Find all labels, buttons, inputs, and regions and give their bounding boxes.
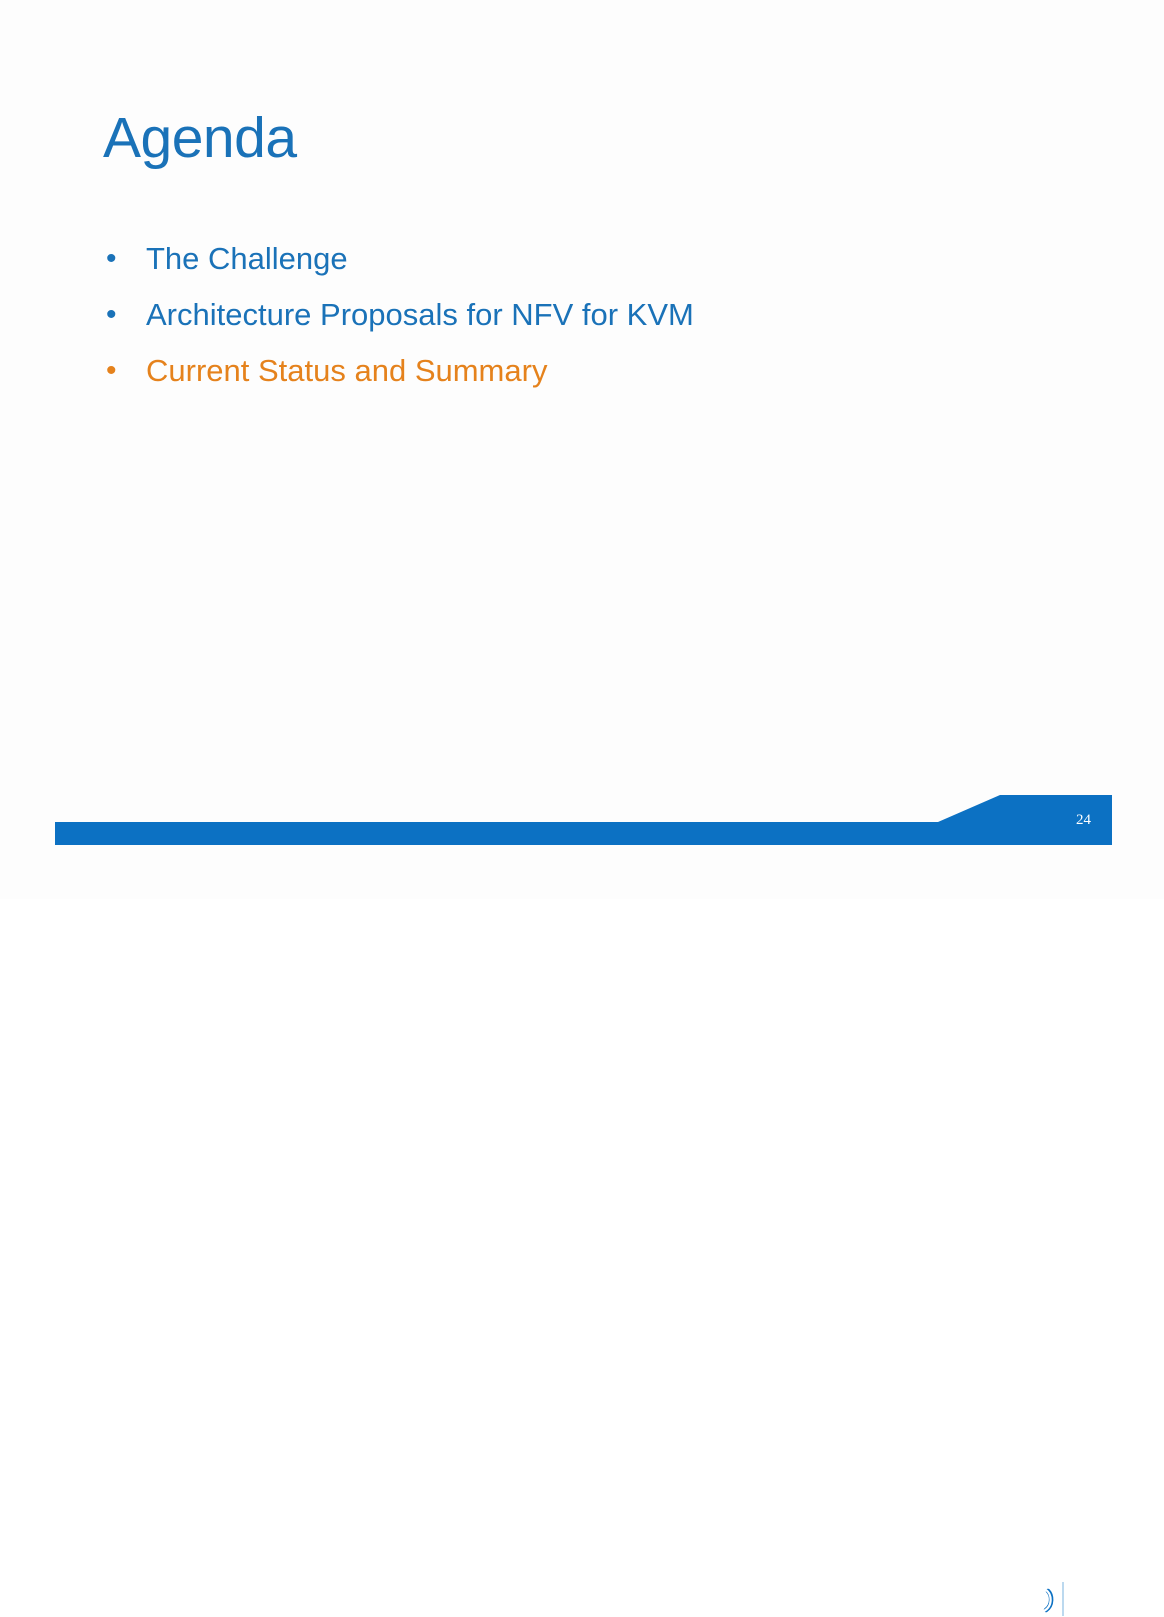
bullet-dot-icon: • [103,238,146,280]
slide-number: 24 [1076,810,1106,830]
intel-logo-icon: intel [1000,1583,1056,1617]
agenda-bullet-list: • The Challenge • Architecture Proposals… [103,238,1003,406]
footer-divider [1062,1582,1064,1616]
agenda-item-current-status-and-summary: Current Status and Summary [146,350,547,392]
slide-canvas: Agenda • The Challenge • Architecture Pr… [0,0,1164,899]
bullet-dot-icon: • [103,350,146,392]
footer-bar-shape [0,780,1164,860]
page-title: Agenda [103,104,297,172]
list-item: • Current Status and Summary [103,350,1003,406]
list-item: • Architecture Proposals for NFV for KVM [103,294,1003,350]
agenda-item-architecture-proposals: Architecture Proposals for NFV for KVM [146,294,694,336]
intel-logo: intel [1000,1583,1056,1617]
agenda-item-the-challenge: The Challenge [146,238,348,280]
list-item: • The Challenge [103,238,1003,294]
bullet-dot-icon: • [103,294,146,336]
svg-text:intel: intel [1014,1593,1040,1609]
slide-footer: intel [0,780,1164,860]
